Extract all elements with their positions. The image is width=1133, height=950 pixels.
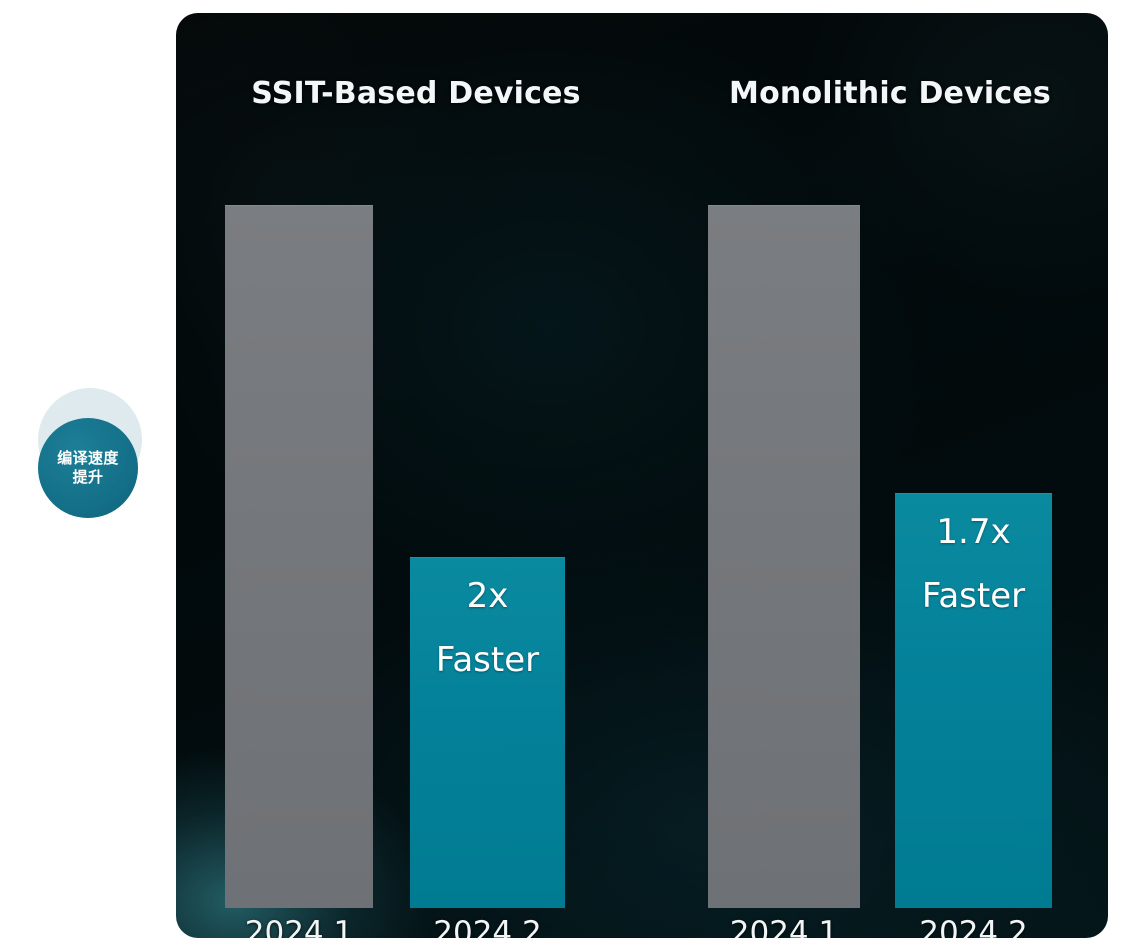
- bar-value-label-ssit-2024-2: 2x Faster: [410, 579, 565, 678]
- bar-value-faster-ssit: Faster: [410, 643, 565, 679]
- bar-ssit-2024-2: 2x Faster: [410, 557, 565, 908]
- bar-ssit-2024-1: [225, 205, 373, 908]
- group-title-ssit: SSIT-Based Devices: [222, 76, 610, 111]
- page-root: 编译速度 提升 SSIT-Based Devices Monolithic De…: [0, 0, 1133, 950]
- axis-label-ssit-2024-2: 2024.2: [396, 915, 579, 938]
- axis-label-monolithic-2024-1: 2024.1: [694, 915, 874, 938]
- bar-value-speedup-ssit: 2x: [410, 579, 565, 615]
- bar-value-speedup-monolithic: 1.7x: [895, 515, 1052, 551]
- compile-speed-badge: 编译速度 提升: [30, 388, 148, 518]
- badge-label-line2: 提升: [73, 468, 104, 487]
- bar-value-label-monolithic-2024-2: 1.7x Faster: [895, 515, 1052, 614]
- bar-value-faster-monolithic: Faster: [895, 579, 1052, 615]
- axis-label-monolithic-2024-2: 2024.2: [881, 915, 1066, 938]
- bar-monolithic-2024-1: [708, 205, 860, 908]
- badge-disc: 编译速度 提升: [38, 418, 138, 518]
- bar-monolithic-2024-2: 1.7x Faster: [895, 493, 1052, 908]
- chart-panel: SSIT-Based Devices Monolithic Devices 20…: [176, 13, 1108, 938]
- axis-label-ssit-2024-1: 2024.1: [211, 915, 387, 938]
- group-title-monolithic: Monolithic Devices: [696, 76, 1084, 111]
- badge-label-line1: 编译速度: [57, 449, 119, 468]
